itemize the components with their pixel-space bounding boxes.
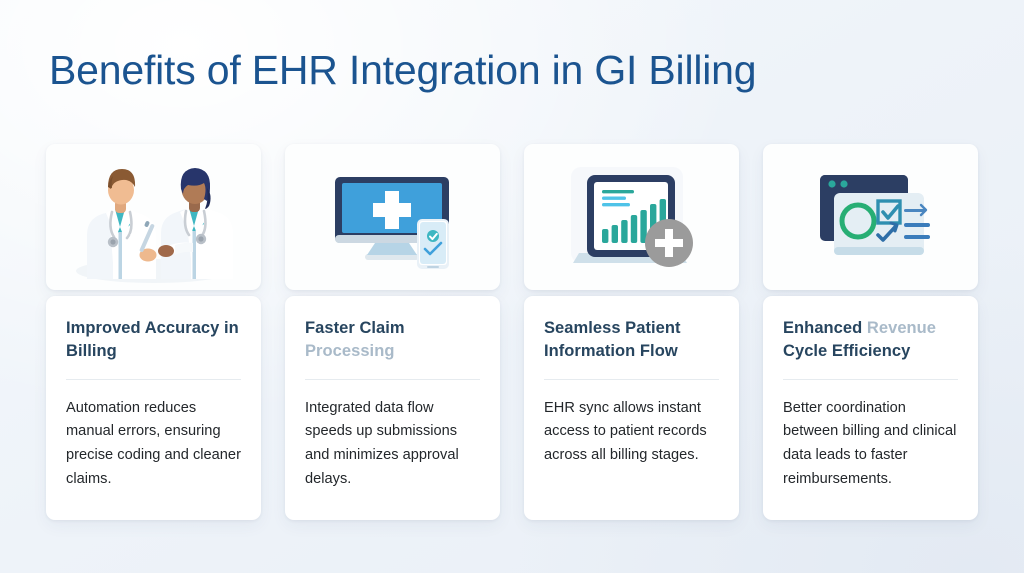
benefit-card-1-body: Automation reduces manual errors, ensuri… <box>66 397 241 492</box>
tablet-bar-chart-with-plus-badge-illustration <box>557 157 707 277</box>
heading-divider <box>305 379 480 380</box>
heading-muted: Revenue <box>867 319 936 337</box>
benefit-card-3-image <box>524 144 739 290</box>
page-title: Benefits of EHR Integration in GI Billin… <box>49 45 949 95</box>
heading-muted: Processing <box>305 342 394 360</box>
heading-lead: Faster Claim <box>305 319 405 337</box>
heading-lead: Enhanced <box>783 319 862 337</box>
benefit-card-4-body: Better coordination between billing and … <box>783 397 958 492</box>
benefit-card-2-body: Integrated data flow speeds up submissio… <box>305 397 480 492</box>
benefit-card-1-heading: Improved Accuracy in Billing <box>66 317 241 364</box>
benefit-card-4-heading: Enhanced Revenue Cycle Efficiency <box>783 317 958 364</box>
benefit-card-4-image <box>763 144 978 290</box>
heading-divider <box>544 379 719 380</box>
benefit-card-3-heading: Seamless Patient Information Flow <box>544 317 719 364</box>
heading-tail: Information Flow <box>544 342 678 360</box>
benefit-card-1: Improved Accuracy in Billing Automation … <box>46 144 261 520</box>
benefit-card-1-text: Improved Accuracy in Billing Automation … <box>46 296 261 520</box>
benefit-card-2-image <box>285 144 500 290</box>
two-doctors-illustration <box>49 151 259 283</box>
heading-divider <box>783 379 958 380</box>
heading-lead: Improved Accuracy <box>66 319 219 337</box>
heading-divider <box>66 379 241 380</box>
benefit-card-3-text: Seamless Patient Information Flow EHR sy… <box>524 296 739 520</box>
desktop-monitor-medical-cross-with-phone-illustration <box>313 157 473 277</box>
heading-tail: Cycle Efficiency <box>783 342 910 360</box>
benefit-card-4-text: Enhanced Revenue Cycle Efficiency Better… <box>763 296 978 520</box>
benefit-card-1-image <box>46 144 261 290</box>
benefit-card-3: Seamless Patient Information Flow EHR sy… <box>524 144 739 520</box>
benefit-card-grid: Improved Accuracy in Billing Automation … <box>46 144 978 520</box>
benefit-card-2-heading: Faster Claim Processing <box>305 317 480 364</box>
benefit-card-2-text: Faster Claim Processing Integrated data … <box>285 296 500 520</box>
benefit-card-3-body: EHR sync allows instant access to patien… <box>544 397 719 468</box>
benefit-card-2: Faster Claim Processing Integrated data … <box>285 144 500 520</box>
heading-lead: Seamless Patient <box>544 319 681 337</box>
benefit-card-4: Enhanced Revenue Cycle Efficiency Better… <box>763 144 978 520</box>
browser-window-checklist-illustration <box>796 157 946 277</box>
